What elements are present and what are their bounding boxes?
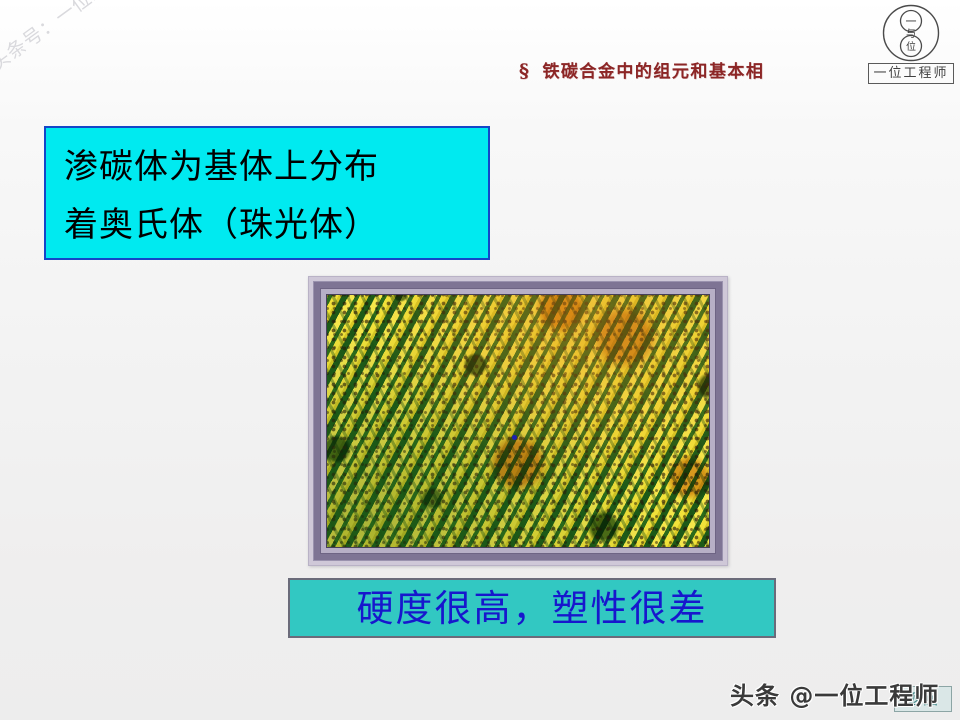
- return-button[interactable]: 返回: [894, 686, 952, 712]
- watermark-top-diagonal: 头条号：一位工程师: [0, 0, 186, 76]
- micrograph-frame-bevel: [320, 288, 716, 554]
- page-title-text: 铁碳合金中的组元和基本相: [542, 62, 764, 82]
- micrograph-image: [326, 294, 710, 548]
- return-button-label: 返回: [907, 692, 939, 707]
- statement-line-2: 着奥氏体（珠光体）: [64, 196, 488, 254]
- logo: 一 与 位 一位工程师: [868, 4, 956, 86]
- svg-text:位: 位: [906, 40, 916, 53]
- page-title: §铁碳合金中的组元和基本相: [519, 57, 764, 82]
- conclusion-text: 硬度很高，塑性很差: [357, 590, 708, 627]
- logo-caption-box: 一位工程师: [868, 63, 954, 84]
- conclusion-box: 硬度很高，塑性很差: [288, 578, 776, 638]
- statement-box: 渗碳体为基体上分布 着奥氏体（珠光体）: [44, 126, 490, 260]
- slide-canvas: 头条号：一位工程师 §铁碳合金中的组元和基本相 一 与 位 一位工程师 渗碳体为…: [0, 0, 960, 720]
- svg-text:与: 与: [906, 28, 916, 40]
- micrograph-texture-tint: [326, 294, 710, 548]
- logo-caption-label: 一位工程师: [873, 67, 948, 80]
- statement-line-1: 渗碳体为基体上分布: [64, 138, 488, 196]
- logo-circle-icon: 一 与 位: [882, 4, 940, 62]
- svg-text:一: 一: [906, 15, 917, 28]
- micrograph-frame-inner: [313, 281, 723, 561]
- section-symbol-icon: §: [519, 60, 530, 82]
- micrograph-frame: [308, 276, 728, 566]
